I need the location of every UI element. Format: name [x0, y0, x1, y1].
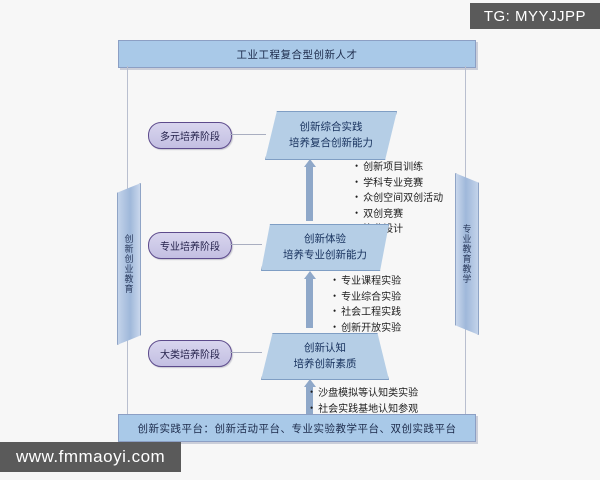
- list-item: 众创空间双创活动: [355, 191, 443, 207]
- stage-pill-3: 大类培养阶段: [148, 340, 232, 367]
- stage-box-3: 创新认知 培养创新素质: [261, 333, 389, 380]
- stage-pill-2: 专业培养阶段: [148, 232, 232, 259]
- talent-cultivation-diagram: 工业工程复合型创新人才 创新创业教育 专业教育教学 多元培养阶段 创新综合实践 …: [0, 28, 600, 452]
- side-label-left: 创新创业教育: [117, 183, 141, 345]
- side-label-right: 专业教育教学: [455, 173, 479, 335]
- list-item: 创新项目训练: [355, 160, 443, 176]
- side-label-left-text: 创新创业教育: [123, 234, 136, 294]
- stage-pill-1: 多元培养阶段: [148, 122, 232, 149]
- watermark-url: www.fmmaoyi.com: [0, 442, 181, 472]
- list-item: 双创竞赛: [355, 207, 443, 223]
- connector-line-1: [230, 134, 266, 135]
- stage-box-1: 创新综合实践 培养复合创新能力: [265, 111, 397, 160]
- list-item: 专业课程实验: [333, 274, 401, 290]
- up-arrow-1: [306, 166, 313, 221]
- platform-bar: 创新实践平台：创新活动平台、专业实验教学平台、双创实践平台: [118, 414, 476, 442]
- stage-box-2-line1: 创新体验: [304, 232, 346, 247]
- stage-box-1-line1: 创新综合实践: [300, 120, 363, 135]
- watermark-tag: TG: MYYJJPP: [470, 3, 600, 29]
- stage-box-1-line2: 培养复合创新能力: [289, 136, 373, 151]
- stage-box-2-line2: 培养专业创新能力: [283, 248, 367, 263]
- list-item: 学科专业竞赛: [355, 176, 443, 192]
- connector-line-2: [230, 244, 262, 245]
- stage-box-3-line1: 创新认知: [304, 341, 346, 356]
- stage-box-3-line2: 培养创新素质: [294, 357, 357, 372]
- up-arrow-2: [306, 278, 313, 328]
- stage-items-2: 专业课程实验 专业综合实验 社会工程实践 创新开放实验: [333, 274, 401, 336]
- side-label-right-text: 专业教育教学: [461, 224, 474, 284]
- list-item: 沙盘模拟等认知类实验: [310, 386, 418, 402]
- connector-line-3: [230, 352, 262, 353]
- stage-box-2: 创新体验 培养专业创新能力: [261, 224, 389, 271]
- diagram-canvas: 工业工程复合型创新人才 创新创业教育 专业教育教学 多元培养阶段 创新综合实践 …: [0, 0, 600, 480]
- list-item: 社会工程实践: [333, 305, 401, 321]
- list-item: 专业综合实验: [333, 290, 401, 306]
- diagram-title-bar: 工业工程复合型创新人才: [118, 40, 476, 68]
